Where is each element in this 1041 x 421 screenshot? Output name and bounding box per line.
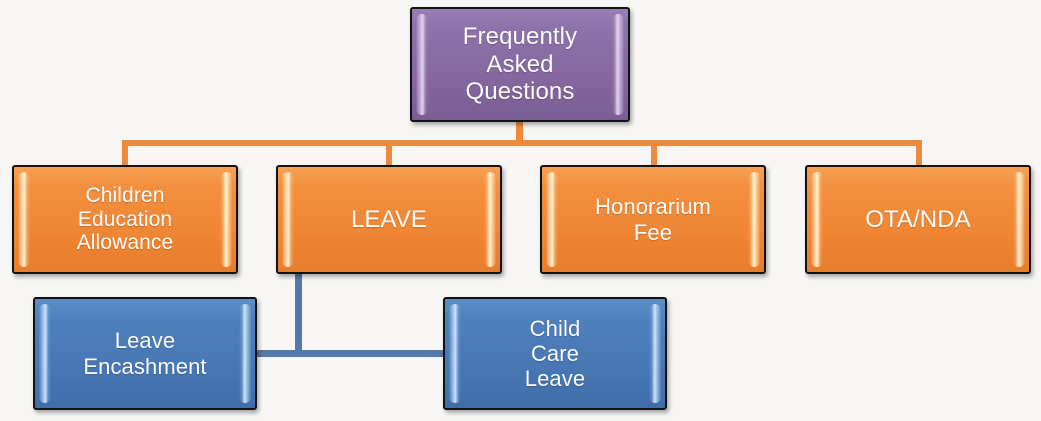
connector-drop-children-education-allowance xyxy=(122,140,128,167)
connector-level2-bus xyxy=(252,350,447,357)
org-chart-canvas: Frequently Asked Questions Children Educ… xyxy=(0,0,1041,421)
bevel-highlight-left xyxy=(546,172,558,267)
bevel-highlight-right xyxy=(484,172,496,267)
bevel-highlight-right xyxy=(649,304,661,403)
node-label: LEAVE xyxy=(341,206,437,233)
node-frequently-asked-questions[interactable]: Frequently Asked Questions xyxy=(410,7,630,122)
node-label: Frequently Asked Questions xyxy=(453,23,587,105)
bevel-highlight-left xyxy=(416,14,428,115)
bevel-highlight-right xyxy=(220,172,232,267)
bevel-highlight-right xyxy=(748,172,760,267)
connector-drop-honorarium-fee xyxy=(651,140,657,167)
node-label: Honorarium Fee xyxy=(585,194,721,244)
connector-drop-leave xyxy=(386,140,392,167)
bevel-highlight-right xyxy=(612,14,624,115)
bevel-highlight-left xyxy=(449,304,461,403)
node-leave-encashment[interactable]: Leave Encashment xyxy=(33,297,257,410)
node-label: Leave Encashment xyxy=(73,328,216,378)
node-label: Children Education Allowance xyxy=(67,184,184,256)
bevel-highlight-left xyxy=(811,172,823,267)
node-ota-nda[interactable]: OTA/NDA xyxy=(805,165,1031,274)
node-child-care-leave[interactable]: Child Care Leave xyxy=(443,297,667,410)
bevel-highlight-left xyxy=(39,304,51,403)
bevel-highlight-right xyxy=(239,304,251,403)
node-label: OTA/NDA xyxy=(855,206,981,233)
connector-drop-ota-nda xyxy=(916,140,922,167)
node-leave[interactable]: LEAVE xyxy=(276,165,502,274)
node-honorarium-fee[interactable]: Honorarium Fee xyxy=(540,165,766,274)
bevel-highlight-left xyxy=(18,172,30,267)
node-label: Child Care Leave xyxy=(515,316,595,391)
bevel-highlight-left xyxy=(282,172,294,267)
connector-level1-bus xyxy=(122,140,922,146)
bevel-highlight-right xyxy=(1013,172,1025,267)
node-children-education-allowance[interactable]: Children Education Allowance xyxy=(12,165,238,274)
connector-leave-stem xyxy=(295,270,302,355)
